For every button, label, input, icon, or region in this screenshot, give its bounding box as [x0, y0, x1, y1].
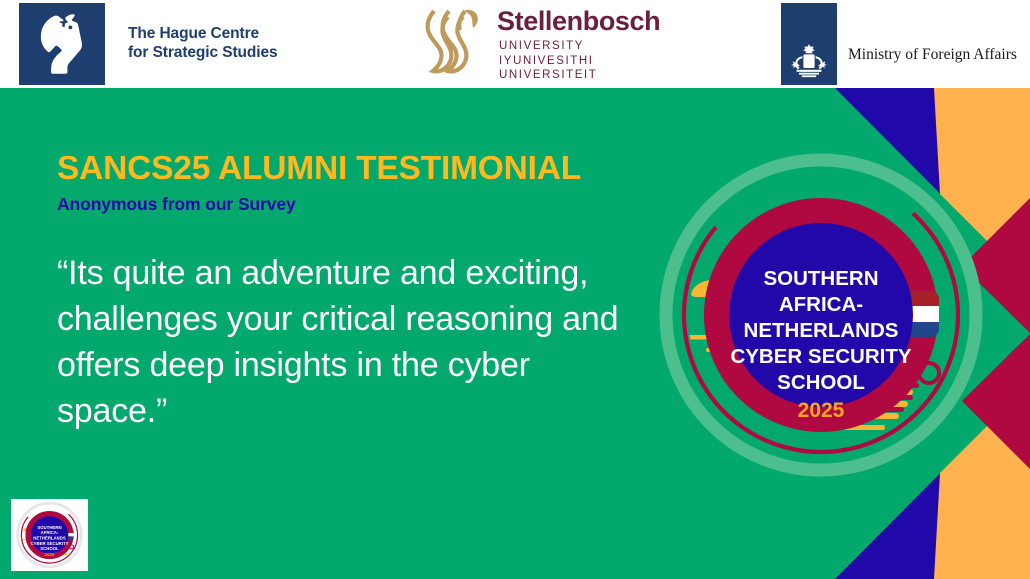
- svg-text:2025: 2025: [44, 552, 55, 557]
- logo-header-bar: The Hague Centre for Strategic Studies S…: [0, 0, 1030, 88]
- hcss-text-line1: The Hague Centre: [128, 24, 348, 43]
- stellenbosch-sub-line3: UNIVERSITEIT: [499, 68, 597, 83]
- emblem-line-4: CYBER SECURITY: [730, 345, 911, 368]
- svg-text:AFRICA-: AFRICA-: [41, 530, 59, 535]
- emblem-line-3: NETHERLANDS: [744, 319, 899, 342]
- svg-text:CYBER SECURITY: CYBER SECURITY: [31, 541, 69, 546]
- emblem-line-1: SOUTHERN: [763, 267, 878, 290]
- testimonial-quote: “Its quite an adventure and exciting, ch…: [57, 250, 622, 434]
- slide-body: SOUTHERN AFRICA- NETHERLANDS CYBER SECUR…: [0, 88, 1030, 579]
- stellenbosch-sub-line2: IYUNIVESITHI: [499, 54, 597, 69]
- stellenbosch-shield-icon: [421, 5, 483, 83]
- hcss-logo-text: The Hague Centre for Strategic Studies: [128, 24, 348, 62]
- page-subtitle: Anonymous from our Survey: [57, 194, 296, 215]
- hcss-text-line2: for Strategic Studies: [128, 43, 348, 62]
- emblem-year: 2025: [798, 399, 845, 422]
- ministry-logo-text: Ministry of Foreign Affairs: [848, 46, 1017, 64]
- svg-text:SCHOOL: SCHOOL: [40, 546, 59, 551]
- hcss-logo: [19, 3, 105, 85]
- emblem-line-5: SCHOOL: [777, 371, 865, 394]
- stellenbosch-sub-line1: UNIVERSITY: [499, 39, 597, 54]
- svg-text:NETHERLANDS: NETHERLANDS: [33, 536, 66, 541]
- stellenbosch-wordmark: Stellenbosch: [497, 6, 660, 36]
- slide-root: The Hague Centre for Strategic Studies S…: [0, 0, 1030, 579]
- sancs-corner-thumbnail: SOUTHERN AFRICA- NETHERLANDS CYBER SECUR…: [11, 499, 88, 571]
- stellenbosch-university-logo: Stellenbosch UNIVERSITY IYUNIVESITHI UNI…: [421, 3, 671, 85]
- sancs-2025-emblem: SOUTHERN AFRICA- NETHERLANDS CYBER SECUR…: [651, 145, 991, 485]
- svg-text:SOUTHERN: SOUTHERN: [37, 525, 61, 530]
- sancs-corner-emblem-icon: SOUTHERN AFRICA- NETHERLANDS CYBER SECUR…: [11, 499, 88, 571]
- ministry-of-foreign-affairs-logo: Ministry of Foreign Affairs: [781, 3, 1021, 85]
- knight-chess-piece-icon: [19, 3, 105, 85]
- page-title: SANCS25 ALUMNI TESTIMONIAL: [57, 151, 581, 187]
- stellenbosch-subtitle: UNIVERSITY IYUNIVESITHI UNIVERSITEIT: [499, 39, 597, 83]
- emblem-line-2: AFRICA-: [779, 293, 863, 316]
- dutch-coat-of-arms-icon: [787, 43, 831, 79]
